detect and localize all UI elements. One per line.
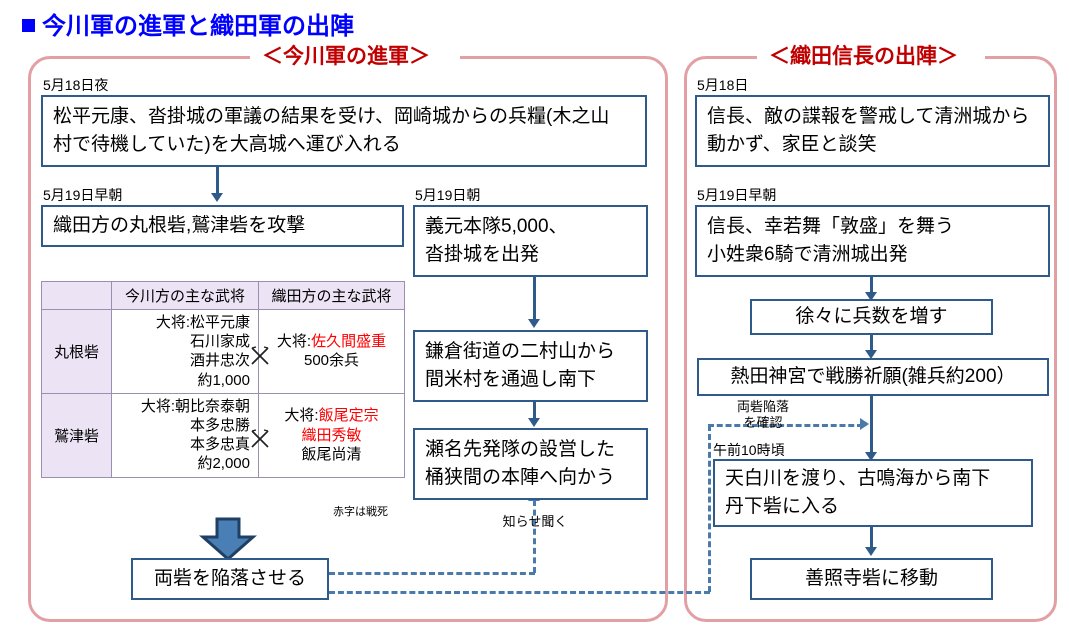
connector-line (870, 527, 873, 549)
box-line: 村で待機していた)を大高城へ運び入れる (53, 131, 635, 159)
caption-may18: 5月18日 (697, 78, 748, 92)
box-line: 桶狭間の本陣へ向かう (425, 464, 636, 492)
connector-arrowhead (528, 319, 540, 328)
caption-may19-early: 5月19日早朝 (43, 188, 122, 202)
table-header-imagawa: 今川方の主な武将 (112, 282, 259, 310)
panel-label-imagawa: ＜今川軍の進軍＞ (252, 46, 440, 67)
dashed-arrowhead (860, 418, 869, 430)
table-rowheader-marune: 丸根砦 (42, 310, 112, 394)
diagram-canvas: 今川軍の進軍と織田軍の出陣 ＜今川軍の進軍＞ ＜織田信長の出陣＞ 5月18日夜 … (0, 0, 1069, 633)
dashed-connector (329, 572, 535, 575)
box-line: 義元本隊5,000、 (425, 213, 636, 241)
cell-line: 大将:松平元康 (116, 313, 250, 332)
cell-line: 本多忠勝 (116, 416, 250, 435)
box-line: 丹下砦に入る (725, 493, 1021, 521)
dashed-connector-cross-panel (708, 425, 711, 592)
dashed-connector (533, 500, 536, 573)
connector-line (870, 396, 873, 454)
box-line: 善照寺砦に移動 (805, 565, 938, 593)
box-line: 鎌倉街道の二村山から (425, 338, 636, 366)
box-forts-fallen: 両砦を陥落させる (131, 558, 329, 600)
box-line: 熱田神宮で戦勝祈願(雑兵約200） (730, 363, 1015, 391)
cell-text: 大将: (284, 407, 318, 424)
table-rowheader-washizu: 鷲津砦 (42, 393, 112, 477)
label-news-heard: 知らせ聞く (490, 514, 580, 530)
connector-line (533, 277, 536, 321)
box-line: 松平元康、沓掛城の軍議の結果を受け、岡崎城からの兵糧(木之山 (53, 103, 635, 131)
caption-around-10am: 午前10時頃 (713, 443, 785, 457)
cell-line: 約2,000 (116, 454, 250, 473)
commanders-table: 今川方の主な武将 織田方の主な武将 丸根砦 大将:松平元康 石川家成 酒井忠次 … (41, 281, 405, 478)
box-tenpaku-river: 天白川を渡り、古鳴海から南下 丹下砦に入る (713, 459, 1033, 527)
connector-arrowhead (211, 193, 223, 202)
box-line: 瀬名先発隊の設営した (425, 436, 636, 464)
caption-may19-early-right: 5月19日早朝 (697, 188, 776, 202)
box-kamakura-road: 鎌倉街道の二村山から 間米村を通過し南下 (413, 330, 648, 402)
caption-may18-night: 5月18日夜 (43, 78, 108, 92)
box-line: 信長、敵の諜報を警戒して清洲城から (707, 103, 1038, 131)
box-matsudaira-provisions: 松平元康、沓掛城の軍議の結果を受け、岡崎城からの兵糧(木之山 村で待機していた)… (41, 95, 647, 167)
cell-line: 大将:佐久間盛重 (267, 332, 396, 351)
cell-text-dead: 佐久間盛重 (311, 333, 386, 350)
box-zenshoji-fort: 善照寺砦に移動 (750, 558, 993, 600)
cell-line: 500余兵 (267, 351, 396, 370)
box-atsumori-dance: 信長、幸若舞「敦盛」を舞う 小姓衆6騎で清洲城出発 (695, 205, 1050, 277)
table-header-oda: 織田方の主な武将 (259, 282, 405, 310)
box-nobunaga-stays: 信長、敵の諜報を警戒して清洲城から 動かず、家臣と談笑 (695, 95, 1050, 167)
box-line: 間米村を通過し南下 (425, 366, 636, 394)
caption-may19-morning: 5月19日朝 (415, 188, 480, 202)
box-line: 両砦を陥落させる (154, 565, 306, 593)
label-line: を確認 (723, 415, 803, 431)
crossed-swords-icon (249, 428, 271, 455)
cell-line: 約1,000 (116, 371, 250, 390)
table-cell-washizu-oda: 大将:飯尾定宗 織田秀敏 飯尾尚清 (259, 393, 405, 477)
table-cell-marune-oda: 大将:佐久間盛重 500余兵 (259, 310, 405, 394)
box-gather-troops: 徐々に兵数を増す (750, 299, 993, 335)
box-line: 小姓衆6騎で清洲城出発 (707, 241, 1038, 269)
cell-line: 飯尾尚清 (267, 445, 396, 464)
connector-arrowhead (865, 547, 877, 556)
table-legend: 赤字は戦死 (333, 503, 388, 519)
table-corner-cell (42, 282, 112, 310)
box-line: 動かず、家臣と談笑 (707, 131, 1038, 159)
panel-label-oda: ＜織田信長の出陣＞ (759, 46, 968, 67)
dashed-connector-cross-panel (329, 591, 710, 594)
cell-line: 石川家成 (116, 332, 250, 351)
box-line: 天白川を渡り、古鳴海から南下 (725, 465, 1021, 493)
cell-line: 本多忠真 (116, 435, 250, 454)
table-header-row: 今川方の主な武将 織田方の主な武将 (42, 282, 405, 310)
label-line: 両砦陥落 (723, 399, 803, 415)
connector-line (216, 167, 219, 195)
page-title: 今川軍の進軍と織田軍の出陣 (22, 6, 354, 41)
page-title-text: 今川軍の進軍と織田軍の出陣 (42, 6, 354, 41)
crossed-swords-icon (249, 345, 271, 372)
table-cell-marune-imagawa: 大将:松平元康 石川家成 酒井忠次 約1,000 (112, 310, 259, 394)
cell-text: 大将: (277, 333, 311, 350)
box-atsuta-shrine-prayer: 熱田神宮で戦勝祈願(雑兵約200） (697, 358, 1049, 396)
square-bullet-icon (22, 19, 35, 32)
box-okehazama-headquarters: 瀬名先発隊の設営した 桶狭間の本陣へ向かう (413, 428, 648, 500)
cell-line-dead: 織田秀敏 (267, 426, 396, 445)
box-line: 信長、幸若舞「敦盛」を舞う (707, 213, 1038, 241)
cell-line: 酒井忠次 (116, 351, 250, 370)
label-confirm-forts-fallen: 両砦陥落 を確認 (723, 399, 803, 432)
down-block-arrow-icon (198, 517, 258, 561)
cell-text-dead: 飯尾定宗 (319, 407, 379, 424)
table-row: 鷲津砦 大将:朝比奈泰朝 本多忠勝 本多忠真 約2,000 大将:飯尾定宗 織田… (42, 393, 405, 477)
box-line: 沓掛城を出発 (425, 241, 636, 269)
connector-arrowhead (528, 418, 540, 427)
box-line: 徐々に兵数を増す (795, 303, 947, 331)
table-row: 丸根砦 大将:松平元康 石川家成 酒井忠次 約1,000 大将:佐久間盛重 50… (42, 310, 405, 394)
box-yoshimoto-departs: 義元本隊5,000、 沓掛城を出発 (413, 205, 648, 277)
cell-line: 大将:飯尾定宗 (267, 406, 396, 425)
box-attack-forts: 織田方の丸根砦,鷲津砦を攻撃 (41, 205, 404, 247)
table-cell-washizu-imagawa: 大将:朝比奈泰朝 本多忠勝 本多忠真 約2,000 (112, 393, 259, 477)
box-line: 織田方の丸根砦,鷲津砦を攻撃 (53, 212, 392, 240)
cell-line: 大将:朝比奈泰朝 (116, 397, 250, 416)
